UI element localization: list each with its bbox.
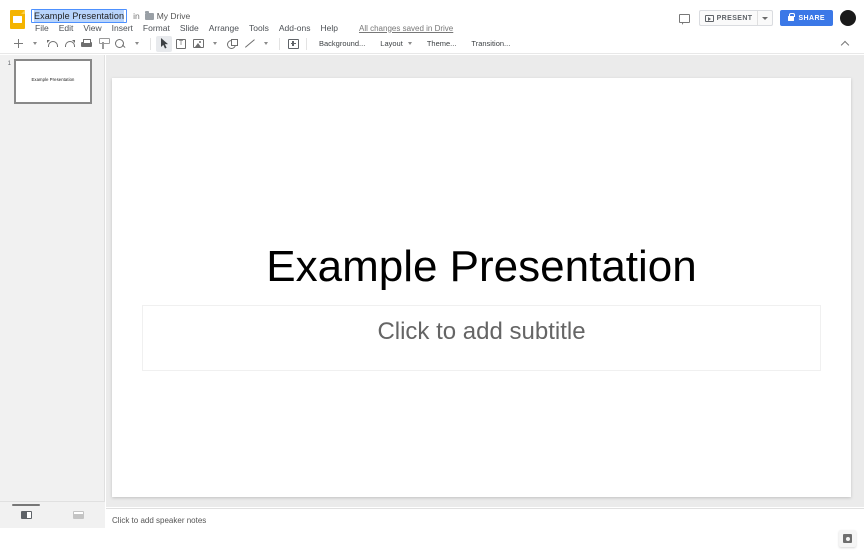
view-switcher	[0, 501, 105, 528]
in-label: in	[133, 11, 140, 21]
filmstrip-view-button[interactable]	[0, 502, 52, 529]
explore-icon	[843, 534, 852, 543]
menu-item-help[interactable]: Help	[316, 22, 343, 34]
menu-item-arrange[interactable]: Arrange	[204, 22, 244, 34]
slide-thumbnail[interactable]: Example Presentation	[14, 59, 92, 104]
document-title-input[interactable]: Example Presentation	[31, 9, 127, 23]
toolbar-items: Background... Layout Theme... Transition…	[0, 36, 517, 52]
collapse-toolbar-button[interactable]	[838, 37, 852, 51]
toolbar-divider	[279, 38, 280, 50]
speaker-notes-placeholder: Click to add speaker notes	[112, 516, 206, 525]
background-button[interactable]: Background...	[312, 36, 372, 52]
folder-icon	[145, 13, 154, 20]
chevron-up-icon	[841, 41, 849, 49]
present-play-icon	[705, 15, 714, 22]
menu-item-tools[interactable]: Tools	[244, 22, 274, 34]
slide-number: 1	[0, 59, 14, 67]
filmstrip-view-icon	[21, 511, 32, 519]
save-status-link[interactable]: All changes saved in Drive	[359, 24, 453, 33]
menu-item-format[interactable]: Format	[138, 22, 175, 34]
google-slides-app: Example Presentation in My Drive File Ed…	[0, 0, 864, 555]
present-button[interactable]: PRESENT	[700, 11, 758, 25]
top-bar: Example Presentation in My Drive File Ed…	[0, 0, 864, 34]
paint-format-button[interactable]	[95, 36, 111, 52]
chevron-down-icon	[762, 17, 768, 20]
menu-item-slide[interactable]: Slide	[175, 22, 204, 34]
shape-button[interactable]	[224, 36, 240, 52]
chevron-down-icon	[264, 42, 268, 45]
avatar[interactable]	[840, 10, 856, 26]
line-button[interactable]	[241, 36, 257, 52]
google-slides-logo[interactable]	[9, 9, 26, 30]
slide-title-text[interactable]: Example Presentation	[142, 243, 821, 291]
slide-subtitle-placeholder[interactable]: Click to add subtitle	[142, 305, 821, 371]
present-button-label: PRESENT	[717, 15, 753, 22]
slide-canvas-area[interactable]: Example Presentation Click to add subtit…	[106, 55, 864, 507]
menu-item-file[interactable]: File	[30, 22, 54, 34]
text-box-icon	[176, 39, 186, 49]
layout-button-label: Layout	[380, 39, 403, 48]
document-title-text: Example Presentation	[34, 10, 124, 22]
document-title-row: Example Presentation in My Drive	[31, 8, 190, 23]
toolbar-divider	[306, 38, 307, 50]
new-slide-dropdown[interactable]	[27, 36, 43, 52]
menu-item-insert[interactable]: Insert	[107, 22, 138, 34]
menu-item-addons[interactable]: Add-ons	[274, 22, 316, 34]
folder-name-link[interactable]: My Drive	[157, 11, 191, 21]
theme-button[interactable]: Theme...	[420, 36, 464, 52]
slide-editor[interactable]: Example Presentation Click to add subtit…	[112, 78, 851, 497]
shape-icon	[227, 39, 238, 49]
cursor-arrow-icon	[160, 38, 169, 49]
present-button-group[interactable]: PRESENT	[699, 10, 774, 26]
slide-subtitle-text: Click to add subtitle	[143, 318, 820, 347]
new-slide-button[interactable]	[10, 36, 26, 52]
chevron-down-icon	[213, 42, 217, 45]
add-comment-button[interactable]	[285, 36, 301, 52]
insert-image-dropdown[interactable]	[207, 36, 223, 52]
grid-view-icon	[73, 511, 84, 519]
slide-filmstrip: 1 Example Presentation	[0, 55, 105, 528]
toolbar-divider	[150, 38, 151, 50]
lock-icon	[788, 16, 794, 21]
insert-image-button[interactable]	[190, 36, 206, 52]
select-tool-button[interactable]	[156, 36, 172, 52]
list-item[interactable]: 1 Example Presentation	[0, 59, 105, 107]
menu-item-edit[interactable]: Edit	[54, 22, 79, 34]
chevron-down-icon	[408, 42, 412, 45]
grid-view-button[interactable]	[52, 502, 104, 529]
speaker-notes-pane[interactable]: Click to add speaker notes	[106, 508, 864, 555]
line-icon	[244, 39, 255, 49]
toolbar: Background... Layout Theme... Transition…	[0, 34, 864, 54]
layout-button[interactable]: Layout	[373, 36, 419, 52]
line-dropdown[interactable]	[258, 36, 274, 52]
zoom-button[interactable]	[112, 36, 128, 52]
menu-bar: File Edit View Insert Format Slide Arran…	[30, 22, 453, 34]
slide-thumbnail-title: Example Presentation	[16, 77, 90, 82]
top-bar-actions: PRESENT SHARE	[678, 10, 856, 26]
chevron-down-icon	[135, 42, 139, 45]
zoom-dropdown[interactable]	[129, 36, 145, 52]
explore-button[interactable]	[839, 530, 856, 547]
text-box-button[interactable]	[173, 36, 189, 52]
print-button[interactable]	[78, 36, 94, 52]
undo-button[interactable]	[44, 36, 60, 52]
transition-button[interactable]: Transition...	[464, 36, 517, 52]
add-comment-icon	[288, 39, 299, 49]
comment-icon[interactable]	[678, 11, 692, 25]
redo-button[interactable]	[61, 36, 77, 52]
present-dropdown-button[interactable]	[757, 11, 772, 25]
share-button[interactable]: SHARE	[780, 10, 833, 26]
image-icon	[193, 39, 204, 48]
share-button-label: SHARE	[798, 15, 825, 22]
menu-item-view[interactable]: View	[78, 22, 106, 34]
chevron-down-icon	[33, 42, 37, 45]
